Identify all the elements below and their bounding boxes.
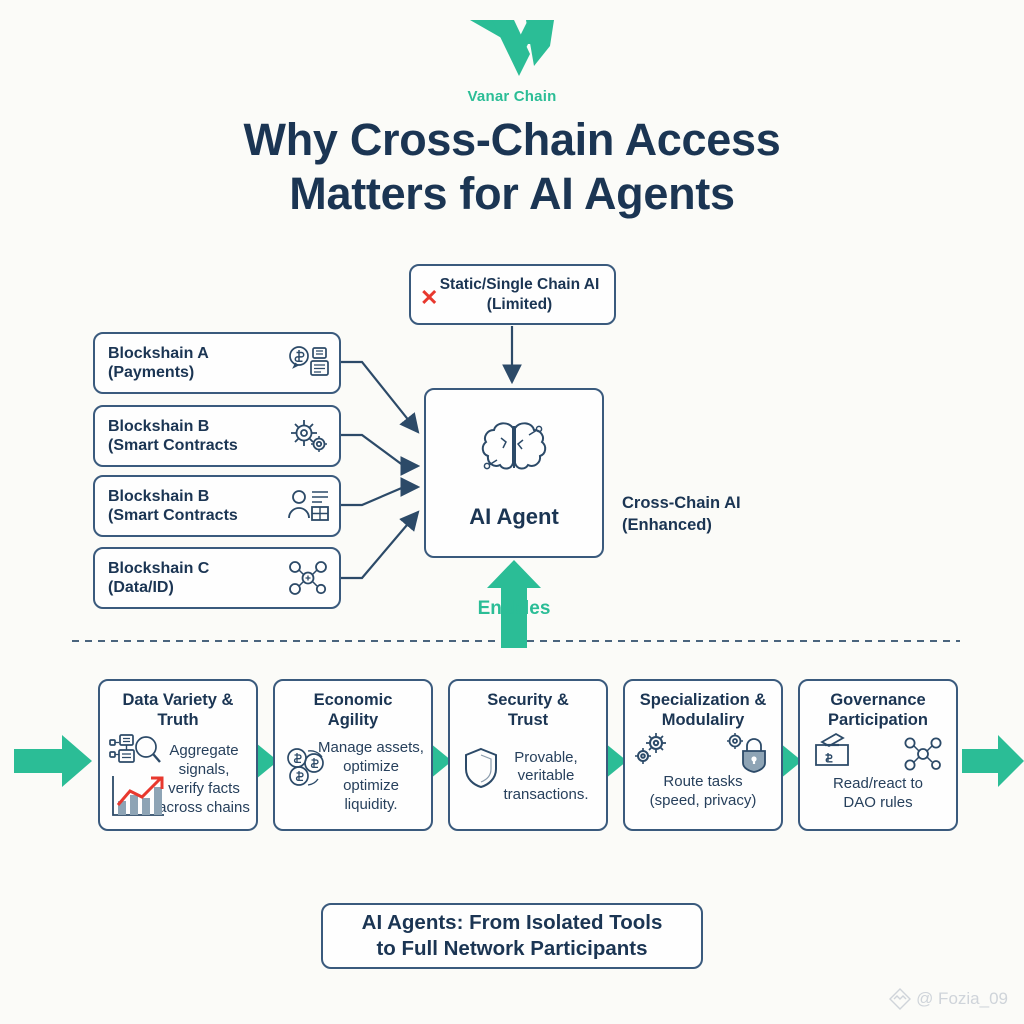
benefit-desc: Read/react to DAO rules [833, 775, 923, 813]
growth-chart-icon [110, 773, 166, 819]
benefit-card-governance: Governance Participation Read/react t [798, 679, 958, 831]
identity-profile-icon [287, 486, 331, 526]
watermark: @ Fozia_09 [889, 988, 1008, 1010]
benefit-desc: Aggregate signals, verify facts across c… [158, 742, 250, 817]
enables-label: Enables [424, 598, 604, 620]
chain-box-c: Blockshain C (Data/ID) [93, 547, 341, 609]
benefit-card-data-variety: Data Variety & Truth [98, 679, 258, 831]
shield-icon [464, 747, 498, 789]
benefit-title: Specialization & Modulaliry [640, 691, 767, 731]
coins-icon [284, 747, 328, 789]
benefit-title: Security & Trust [487, 691, 569, 731]
static-chain-label: Static/Single Chain AI (Limited) [411, 275, 614, 314]
footer-text: AI Agents: From Isolated Tools to Full N… [362, 910, 663, 961]
infographic-canvas: Vanar Chain Why Cross-Chain Access Matte… [0, 0, 1024, 1024]
brain-icon [471, 416, 557, 490]
payments-invoice-icon [287, 343, 331, 383]
cross-mark-icon: ✕ [420, 287, 438, 309]
chain-box-a: Blockshain A (Payments) [93, 332, 341, 394]
chain-label: Blockshain C (Data/ID) [108, 559, 287, 597]
cross-chain-enhanced-label: Cross-Chain AI (Enhanced) [622, 492, 832, 537]
ai-agent-box: AI Agent [424, 388, 604, 558]
benefit-card-specialization: Specialization & Modulaliry [623, 679, 783, 831]
ai-agent-label: AI Agent [469, 504, 559, 530]
benefit-card-security-trust: Security & Trust Provable, veritable tra… [448, 679, 608, 831]
static-single-chain-box: ✕ Static/Single Chain AI (Limited) [409, 264, 616, 325]
gears-icon [633, 731, 675, 769]
data-search-icon [108, 733, 162, 771]
ballot-box-icon [812, 731, 856, 771]
right-arrow-icon [962, 735, 1024, 787]
benefit-title: Economic Agility [314, 691, 393, 731]
benefit-title: Governance Participation [828, 691, 928, 731]
benefit-desc: Provable, veritable transactions. [503, 749, 588, 805]
benefit-desc: Route tasks (speed, privacy) [650, 773, 757, 811]
network-nodes-icon [287, 558, 331, 598]
watermark-handle: @ Fozia_09 [916, 989, 1008, 1009]
chain-box-b2: Blockshain B (Smart Contracts [93, 475, 341, 537]
gears-contract-icon [287, 416, 331, 456]
diamond-gem-icon [889, 988, 911, 1010]
footer-banner: AI Agents: From Isolated Tools to Full N… [321, 903, 703, 969]
chain-label: Blockshain B (Smart Contracts [108, 417, 287, 455]
lock-gear-icon [723, 731, 769, 773]
chain-label: Blockshain B (Smart Contracts [108, 487, 287, 525]
chain-box-b1: Blockshain B (Smart Contracts [93, 405, 341, 467]
benefit-card-economic-agility: Economic Agility Manage assets, optimize… [273, 679, 433, 831]
network-nodes-icon [902, 735, 946, 773]
benefit-desc: Manage assets, optimize optimize liquidi… [317, 739, 425, 814]
chain-label: Blockshain A (Payments) [108, 344, 287, 382]
right-arrow-icon [14, 735, 92, 787]
benefit-title: Data Variety & Truth [123, 691, 234, 731]
